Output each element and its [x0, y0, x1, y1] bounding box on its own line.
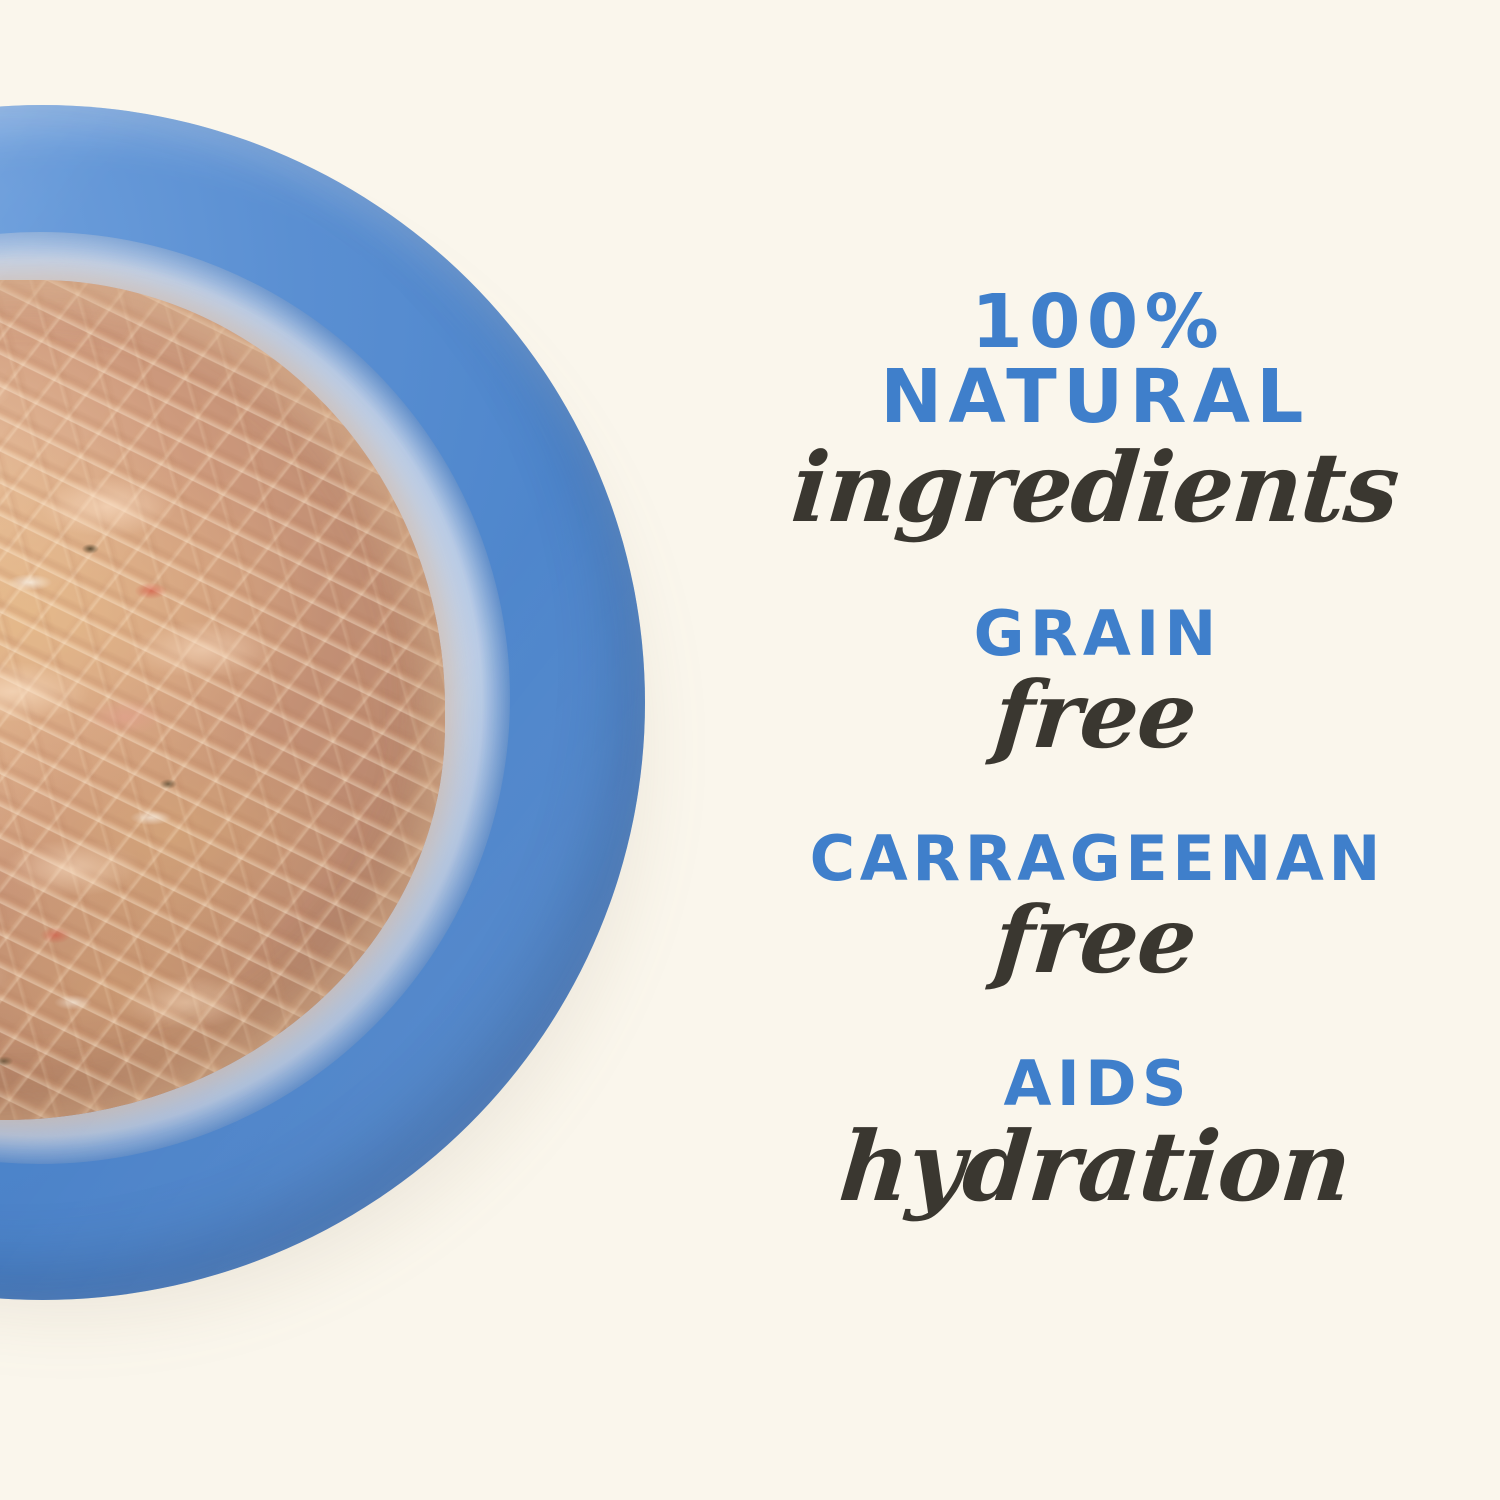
- claim-script: hydration: [686, 1119, 1500, 1215]
- product-photo: [0, 0, 760, 1500]
- claim-script: ingredients: [686, 440, 1500, 536]
- claim-grain-free: GRAIN free: [690, 602, 1500, 761]
- claim-aids-hydration: AIDS hydration: [690, 1052, 1500, 1215]
- claim-natural-ingredients: 100% NATURAL ingredients: [690, 285, 1500, 536]
- claim-headline: 100% NATURAL: [690, 285, 1500, 436]
- claim-headline: AIDS: [690, 1052, 1500, 1115]
- claim-script: free: [686, 894, 1500, 986]
- claim-script: free: [686, 669, 1500, 761]
- product-feature-graphic: 100% NATURAL ingredients GRAIN free CARR…: [0, 0, 1500, 1500]
- claim-headline: CARRAGEENAN: [690, 827, 1500, 890]
- claims-list: 100% NATURAL ingredients GRAIN free CARR…: [690, 0, 1500, 1500]
- claim-headline: GRAIN: [690, 602, 1500, 665]
- claim-carrageenan-free: CARRAGEENAN free: [690, 827, 1500, 986]
